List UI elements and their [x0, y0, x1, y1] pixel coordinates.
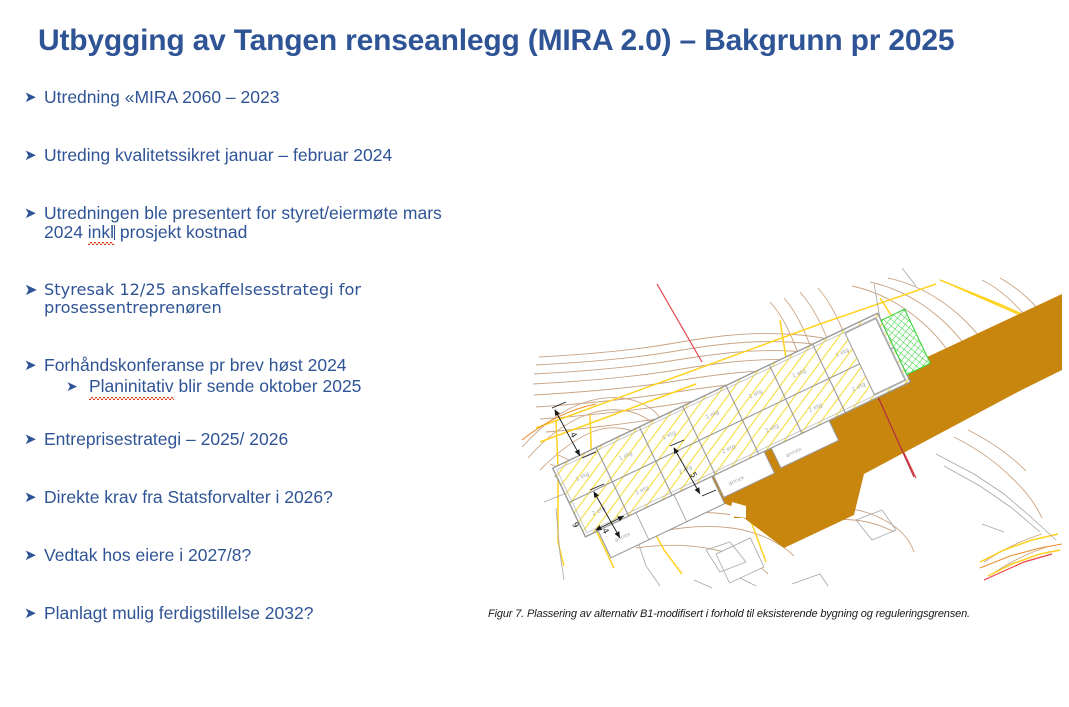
- arrow-bullet-icon: ➤: [24, 88, 44, 107]
- list-item: ➤ Direkte krav fra Statsforvalter i 2026…: [24, 488, 504, 507]
- spacer: [24, 165, 504, 204]
- arrow-bullet-icon: ➤: [66, 375, 89, 397]
- list-item-label: Entreprisestrategi – 2025/ 2026: [44, 430, 504, 449]
- list-item-label: Utredning «MIRA 2060 – 2023: [44, 88, 504, 107]
- spacer: [24, 565, 504, 604]
- arrow-bullet-icon: ➤: [24, 146, 44, 165]
- list-item-sub-label: Planinitativ blir sende oktober 2025: [89, 375, 504, 397]
- arrow-bullet-icon: ➤: [24, 430, 44, 449]
- figure-caption: Figur 7. Plassering av alternativ B1-mod…: [488, 607, 1064, 621]
- list-item-label: Styresak 12/25 anskaffelsesstrategi for …: [44, 281, 504, 317]
- spacer: [24, 507, 504, 546]
- list-item: ➤ Planlagt mulig ferdigstillelse 2032?: [24, 604, 504, 623]
- site-plan-drawing: 1 etg 1 etg 1 etg 1 etg 1 etg 1 etg 1 et…: [484, 262, 1064, 592]
- list-item-sub: ➤ Planinitativ blir sende oktober 2025: [66, 375, 504, 397]
- list-item-sub-suffix: blir sende oktober 2025: [174, 376, 362, 396]
- list-item-line-1: Styresak 12/25 anskaffelsesstrategi for: [44, 280, 361, 299]
- spacer: [24, 397, 504, 430]
- figure-block: 1 etg 1 etg 1 etg 1 etg 1 etg 1 etg 1 et…: [484, 262, 1064, 632]
- arrow-bullet-icon: ➤: [24, 546, 44, 565]
- list-item-line-2-suffix: prosjekt kostnad: [115, 222, 247, 242]
- list-item: ➤ Entreprisestrategi – 2025/ 2026: [24, 430, 504, 449]
- svg-text:9: 9: [570, 521, 580, 530]
- bullet-list: ➤ Utredning «MIRA 2060 – 2023 ➤ Utreding…: [24, 88, 504, 623]
- list-item-label: Planlagt mulig ferdigstillelse 2032?: [44, 604, 504, 623]
- list-item-line-1: Utredningen ble presentert for styret/ei…: [44, 203, 442, 223]
- presentation-slide: Utbygging av Tangen renseanlegg (MIRA 2.…: [0, 0, 1069, 707]
- arrow-bullet-icon: ➤: [24, 281, 44, 299]
- list-item: ➤ Utredning «MIRA 2060 – 2023: [24, 88, 504, 107]
- page-title: Utbygging av Tangen renseanlegg (MIRA 2.…: [38, 24, 1038, 59]
- misspelled-word: inkl: [88, 223, 114, 242]
- arrow-bullet-icon: ➤: [24, 204, 44, 223]
- spacer: [24, 242, 504, 281]
- arrow-bullet-icon: ➤: [24, 604, 44, 623]
- arrow-bullet-icon: ➤: [24, 356, 44, 375]
- list-item-label: Forhåndskonferanse pr brev høst 2024: [44, 356, 504, 375]
- list-item-line-2: prosessentreprenøren: [44, 298, 222, 317]
- list-item: ➤ Vedtak hos eiere i 2027/8?: [24, 546, 504, 565]
- list-item: ➤ Styresak 12/25 anskaffelsesstrategi fo…: [24, 281, 504, 317]
- list-item-label: Vedtak hos eiere i 2027/8?: [44, 546, 504, 565]
- list-item-label: Utreding kvalitetssikret januar – februa…: [44, 146, 504, 165]
- spacer: [24, 107, 504, 146]
- spacer: [24, 317, 504, 356]
- list-item: ➤ Forhåndskonferanse pr brev høst 2024: [24, 356, 504, 375]
- list-item: ➤ Utredningen ble presentert for styret/…: [24, 204, 504, 242]
- list-item-line-2-prefix: 2024: [44, 222, 88, 242]
- spacer: [24, 449, 504, 488]
- misspelled-word: Planinitativ: [89, 375, 174, 397]
- list-item: ➤ Utreding kvalitetssikret januar – febr…: [24, 146, 504, 165]
- arrow-bullet-icon: ➤: [24, 488, 44, 507]
- list-item-label: Direkte krav fra Statsforvalter i 2026?: [44, 488, 504, 507]
- list-item-label: Utredningen ble presentert for styret/ei…: [44, 204, 504, 242]
